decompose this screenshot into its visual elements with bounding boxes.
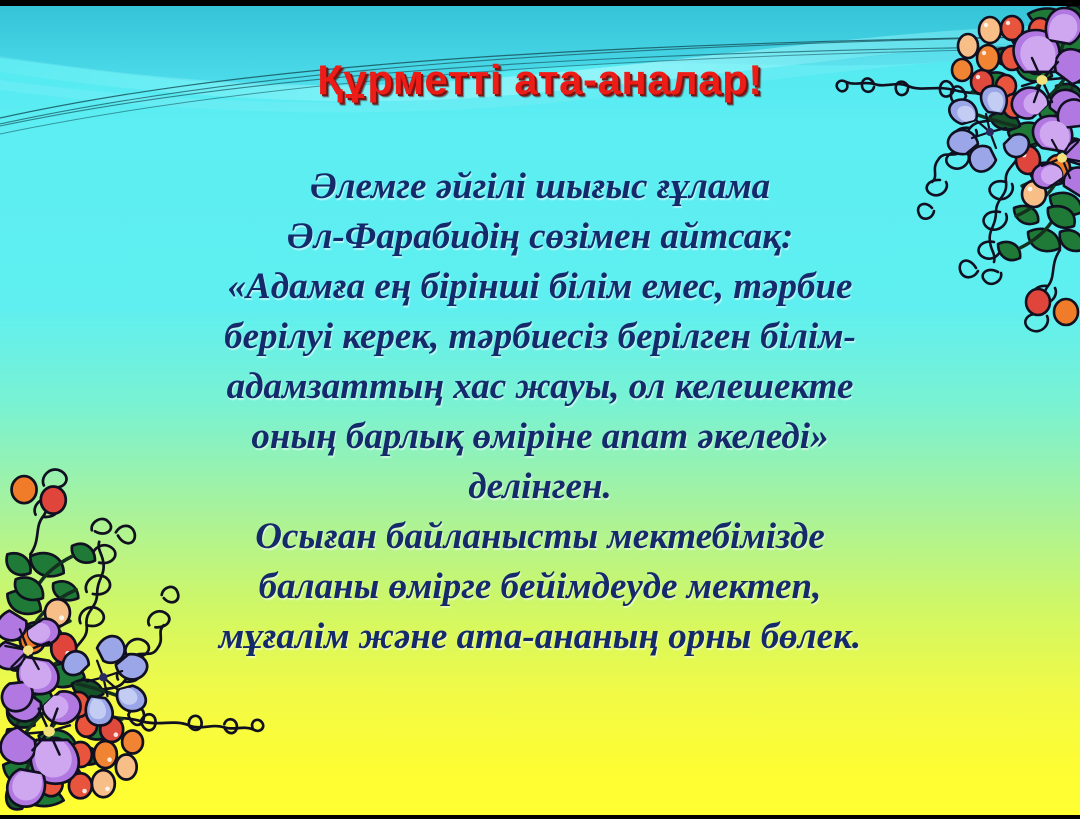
body-line: адамзаттың хас жауы, ол келешекте — [60, 362, 1020, 412]
floral-ornament-icon — [816, 0, 1080, 350]
bottom-frame-bar — [0, 815, 1080, 819]
floral-corner-top-right — [816, 0, 1080, 350]
slide-canvas: Құрметті ата-аналар! Әлемге әйгілі шығыс… — [0, 0, 1080, 819]
top-frame-bar — [0, 0, 1080, 6]
floral-corner-bottom-left — [0, 450, 294, 815]
floral-ornament-icon — [0, 450, 294, 815]
